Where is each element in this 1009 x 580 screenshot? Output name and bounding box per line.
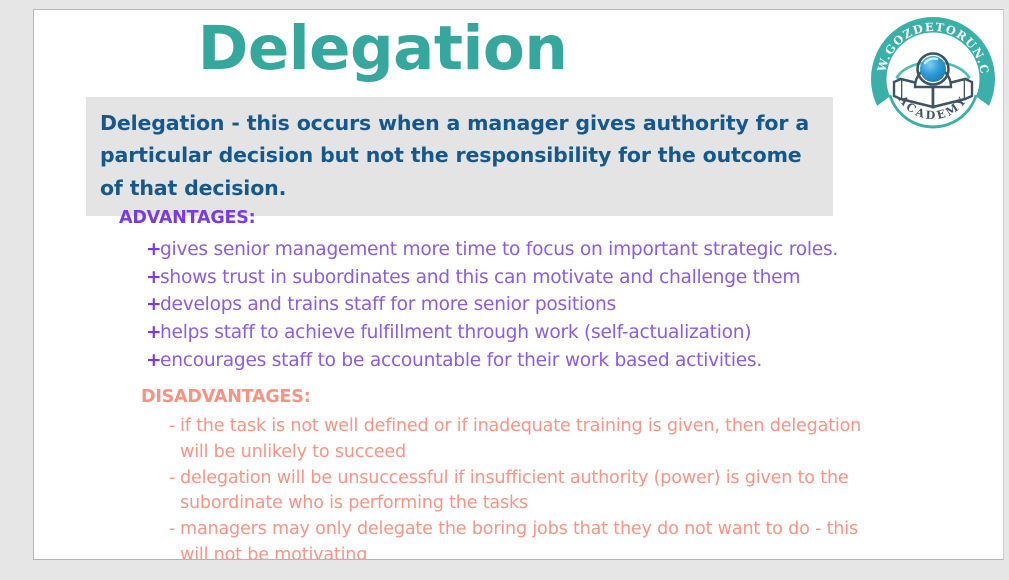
list-item-text: helps staff to achieve fulfillment throu… [160, 319, 751, 347]
list-item: - managers may only delegate the boring … [169, 517, 869, 560]
list-item-text: managers may only delegate the boring jo… [180, 517, 869, 560]
list-item-text: shows trust in subordinates and this can… [160, 264, 800, 292]
definition-text: Delegation - this occurs when a manager … [100, 107, 819, 204]
list-item-text: gives senior management more time to foc… [160, 236, 838, 264]
list-item: - if the task is not well defined or if … [169, 414, 869, 465]
dash-marker-icon: - [169, 466, 180, 492]
definition-box: Delegation - this occurs when a manager … [86, 97, 833, 216]
list-item-text: encourages staff to be accountable for t… [160, 347, 762, 375]
plus-marker-icon: + [146, 291, 160, 319]
advantages-heading: ADVANTAGES: [119, 208, 1004, 230]
sphere-icon [920, 56, 946, 82]
content-area: ADVANTAGES: + gives senior management mo… [34, 208, 1004, 560]
page-title: Delegation [34, 16, 731, 82]
plus-marker-icon: + [146, 347, 160, 375]
screenshot-viewport: Delegation Delegation - this occurs when… [0, 0, 1009, 580]
dash-marker-icon: - [169, 414, 180, 440]
plus-marker-icon: + [146, 264, 160, 292]
disadvantages-heading: DISADVANTAGES: [141, 387, 1004, 409]
list-item: + shows trust in subordinates and this c… [146, 264, 1004, 292]
plus-marker-icon: + [146, 319, 160, 347]
list-item: + develops and trains staff for more sen… [146, 291, 1004, 319]
list-item: + encourages staff to be accountable for… [146, 347, 1004, 375]
advantages-list: + gives senior management more time to f… [34, 236, 1004, 375]
list-item: + gives senior management more time to f… [146, 236, 1004, 264]
slide-canvas: Delegation Delegation - this occurs when… [33, 9, 1004, 560]
list-item-text: if the task is not well defined or if in… [180, 414, 869, 465]
academy-logo: WWW.GOZDETORUN.COM ACADEMY [867, 13, 999, 145]
plus-marker-icon: + [146, 236, 160, 264]
list-item-text: develops and trains staff for more senio… [160, 291, 616, 319]
disadvantages-list: - if the task is not well defined or if … [34, 414, 1004, 560]
dash-marker-icon: - [169, 517, 180, 543]
list-item: - delegation will be unsuccessful if ins… [169, 466, 869, 517]
list-item-text: delegation will be unsuccessful if insuf… [180, 466, 869, 517]
list-item: + helps staff to achieve fulfillment thr… [146, 319, 1004, 347]
